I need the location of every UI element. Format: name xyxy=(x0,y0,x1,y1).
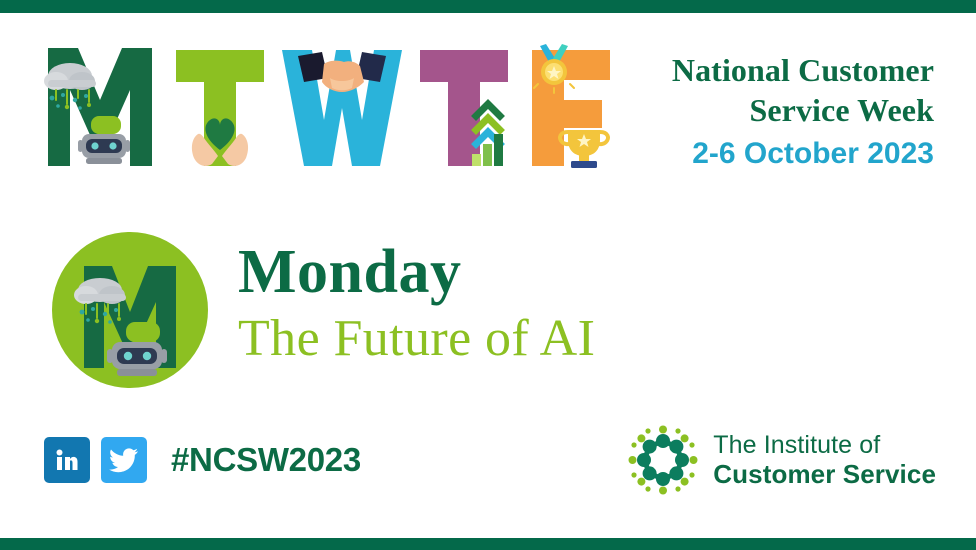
twitter-button[interactable] xyxy=(101,437,147,483)
week-letter-thursday xyxy=(418,38,512,173)
twitter-icon xyxy=(109,447,139,473)
campaign-headline: National Customer Service Week 2-6 Octob… xyxy=(604,50,934,174)
institute-wordmark: The Institute of Customer Service xyxy=(713,433,936,487)
brand-line-2: Customer Service xyxy=(713,461,936,487)
week-letter-friday xyxy=(524,38,616,173)
day-name: Monday xyxy=(238,237,595,307)
headline-line-1: National Customer xyxy=(604,50,934,90)
week-letter-monday xyxy=(34,38,166,173)
bottom-border-bar xyxy=(0,538,976,550)
day-badge-monday xyxy=(52,232,208,388)
top-border-bar xyxy=(0,0,976,13)
institute-logo: The Institute of Customer Service xyxy=(627,424,936,496)
ncsw-poster: National Customer Service Week 2-6 Octob… xyxy=(0,0,976,550)
campaign-dates: 2-6 October 2023 xyxy=(604,134,934,174)
social-row: #NCSW2023 xyxy=(44,437,361,483)
day-topic: The Future of AI xyxy=(238,309,595,369)
dots-circle-logo-icon xyxy=(627,424,699,496)
campaign-hashtag: #NCSW2023 xyxy=(171,441,361,479)
brand-line-1: The Institute of xyxy=(713,433,936,458)
week-letter-tuesday xyxy=(174,38,266,173)
day-title-block: Monday The Future of AI xyxy=(238,237,595,369)
trophy-icon xyxy=(560,130,608,168)
week-letters-row xyxy=(34,38,614,173)
linkedin-button[interactable] xyxy=(44,437,90,483)
headline-line-2: Service Week xyxy=(604,90,934,130)
robot-icon xyxy=(107,322,167,376)
week-letter-wednesday xyxy=(278,38,406,173)
linkedin-icon xyxy=(53,446,81,474)
